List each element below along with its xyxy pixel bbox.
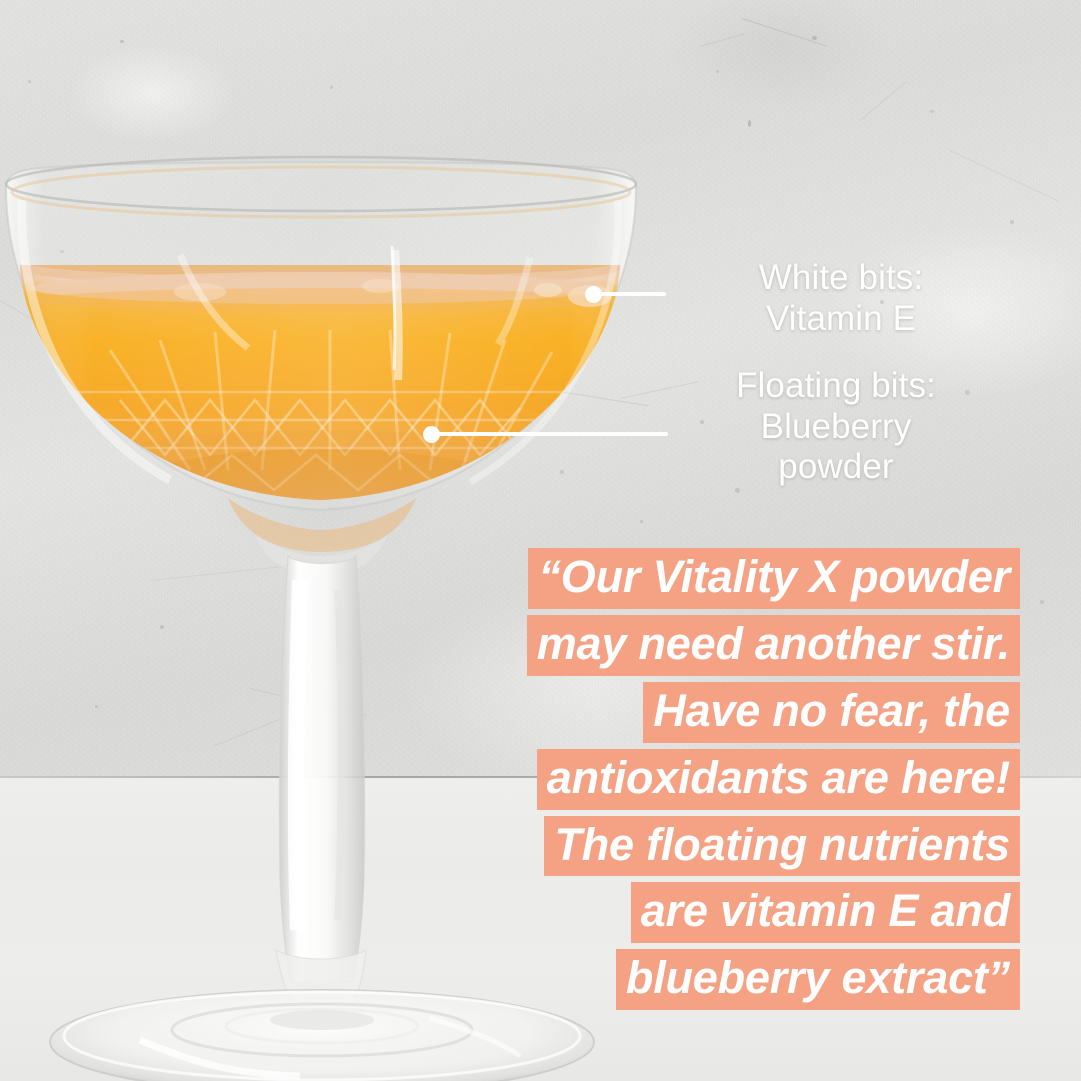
quote-line-text: “Our Vitality X powder (528, 548, 1020, 609)
leader-line-floating-bits (432, 432, 668, 436)
annotation-label-floating-bits: Floating bits: Blueberry powder (662, 366, 1010, 488)
quote-line: are vitamin E and (370, 882, 1020, 943)
testimonial-quote-block: “Our Vitality X powder may need another … (370, 548, 1020, 1016)
quote-line-text: blueberry extract” (616, 949, 1020, 1010)
quote-line-text: are vitamin E and (631, 882, 1020, 943)
quote-line-text: Have no fear, the (643, 682, 1020, 743)
quote-line-text: antioxidants are here! (537, 749, 1020, 810)
quote-line: may need another stir. (370, 615, 1020, 676)
quote-line-text: may need another stir. (527, 615, 1020, 676)
quote-line-text: The floating nutrients (544, 816, 1020, 877)
quote-line: “Our Vitality X powder (370, 548, 1020, 609)
quote-line: blueberry extract” (370, 949, 1020, 1010)
quote-line: The floating nutrients (370, 816, 1020, 877)
screenshot-canvas: White bits: Vitamin E Floating bits: Blu… (0, 0, 1081, 1081)
quote-line: antioxidants are here! (370, 749, 1020, 810)
quote-line: Have no fear, the (370, 682, 1020, 743)
leader-line-white-bits (594, 292, 666, 296)
annotation-label-white-bits: White bits: Vitamin E (676, 258, 1006, 339)
